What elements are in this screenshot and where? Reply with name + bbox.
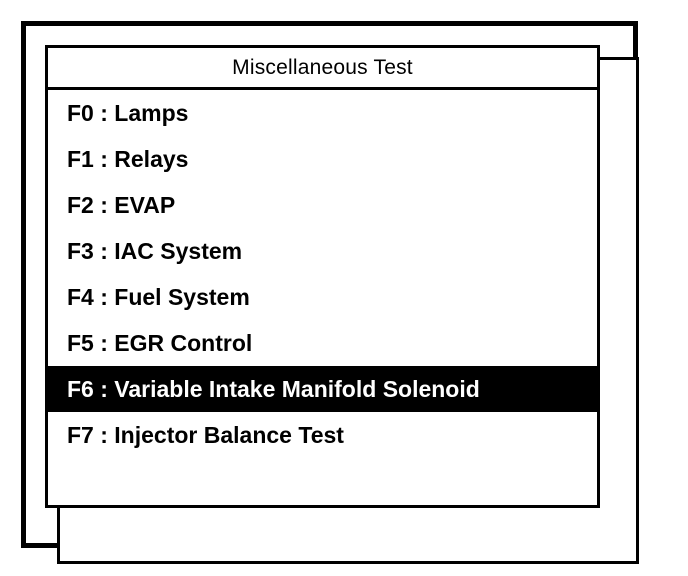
menu-item-f1[interactable]: F1 : Relays	[48, 136, 597, 182]
menu-item-f6[interactable]: F6 : Variable Intake Manifold Solenoid	[48, 366, 597, 412]
menu-panel: Miscellaneous Test F0 : LampsF1 : Relays…	[45, 45, 600, 508]
menu-item-f0[interactable]: F0 : Lamps	[48, 90, 597, 136]
page-title: Miscellaneous Test	[48, 48, 597, 90]
menu-item-f3[interactable]: F3 : IAC System	[48, 228, 597, 274]
menu-item-f7[interactable]: F7 : Injector Balance Test	[48, 412, 597, 458]
screen-canvas: Miscellaneous Test F0 : LampsF1 : Relays…	[0, 0, 688, 576]
menu-item-f5[interactable]: F5 : EGR Control	[48, 320, 597, 366]
menu-item-f2[interactable]: F2 : EVAP	[48, 182, 597, 228]
menu-item-f4[interactable]: F4 : Fuel System	[48, 274, 597, 320]
menu-list: F0 : LampsF1 : RelaysF2 : EVAPF3 : IAC S…	[48, 90, 597, 458]
